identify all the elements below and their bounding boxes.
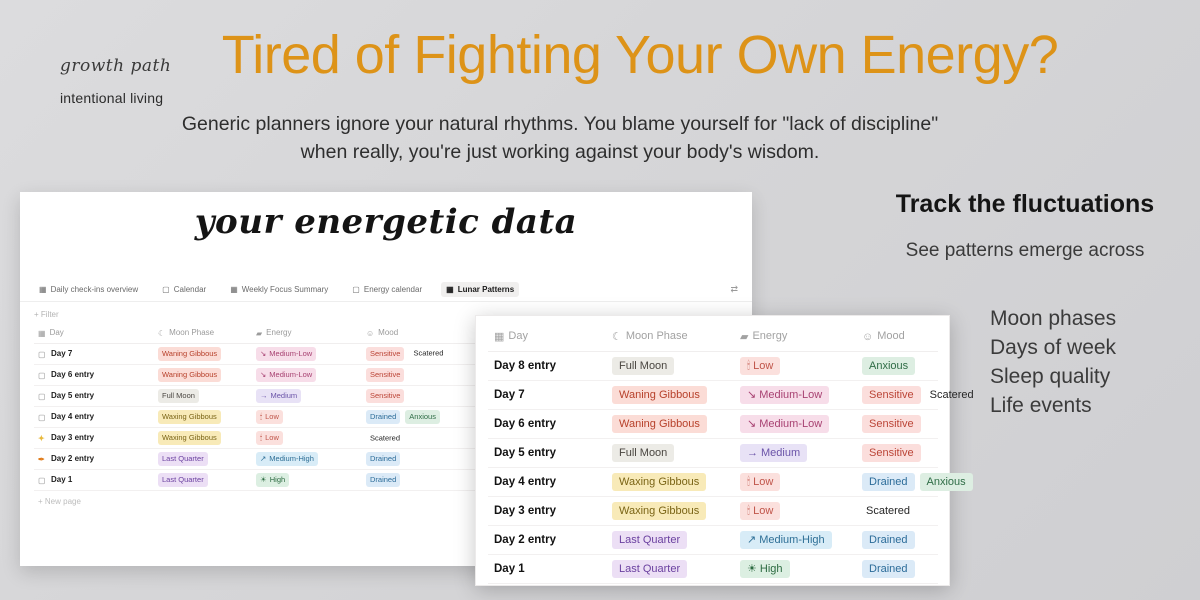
cell-day-label: Day 1 (51, 475, 72, 484)
energy-tag: 🕯Low (256, 431, 283, 444)
cell-moon-phase[interactable]: Waning Gibbous (606, 410, 734, 439)
energy-level-icon: ↘ (747, 388, 756, 403)
cell-day[interactable]: Day 3 entry (488, 497, 606, 526)
cell-energy[interactable]: 🕯Low (252, 407, 362, 428)
energy-level-icon: 🕯 (747, 504, 750, 519)
cell-day-label: Day 2 entry (494, 534, 556, 546)
moon-phase-tag: Full Moon (158, 389, 199, 402)
page-icon: ▢ (38, 371, 48, 380)
moon-phase-tag: Last Quarter (158, 473, 208, 486)
table-row[interactable]: Day 5 entryFull Moon→MediumSensitive (488, 439, 938, 468)
column-header-label: Moon Phase (169, 328, 214, 337)
table-header-row: ▦Day☾Moon Phase▰Energy☺Mood (488, 324, 938, 352)
cell-day[interactable]: Day 2 entry (488, 526, 606, 555)
tab-weekly-focus-summary[interactable]: ▦Weekly Focus Summary (225, 282, 333, 297)
energy-tag: 🕯Low (256, 410, 283, 423)
table-grid-icon: ▦ (446, 286, 454, 294)
moon-phase-tag: Last Quarter (612, 531, 687, 550)
energy-tag: ↘Medium-Low (256, 347, 316, 360)
moon-phase-tag: Last Quarter (612, 560, 687, 579)
page-icon: ▢ (352, 286, 360, 294)
cell-energy[interactable]: ↘Medium-Low (252, 365, 362, 386)
subheadline-line-1: Generic planners ignore your natural rhy… (150, 110, 970, 138)
cell-day[interactable]: Day 8 entry (488, 352, 606, 381)
cell-day[interactable]: Day 4 entry (488, 468, 606, 497)
cell-energy[interactable]: ☀High (734, 555, 856, 584)
cell-energy[interactable]: →Medium (252, 386, 362, 407)
moon-phase-tag: Last Quarter (158, 452, 208, 465)
cell-energy[interactable]: ↘Medium-Low (252, 344, 362, 365)
cell-moon-phase[interactable]: Last Quarter (606, 526, 734, 555)
cell-day[interactable]: ✦Day 3 entry (34, 428, 154, 449)
cell-day[interactable]: ▢Day 5 entry (34, 386, 154, 407)
tab-label: Energy calendar (364, 285, 422, 294)
cell-energy[interactable]: 🕯Low (252, 428, 362, 449)
cell-day-label: Day 4 entry (494, 476, 556, 488)
mood-tag: Sensitive (366, 347, 404, 360)
energy-tag: ↗Medium-High (256, 452, 318, 465)
table-row[interactable]: Day 6 entryWaning Gibbous↘Medium-LowSens… (488, 410, 938, 439)
column-header-label: Energy (266, 328, 291, 337)
cell-moon-phase[interactable]: Last Quarter (606, 555, 734, 584)
tab-label: Calendar (174, 285, 206, 294)
cell-mood[interactable]: Scatered (856, 497, 938, 526)
energy-level-icon: ↘ (260, 349, 266, 359)
moon-phase-tag: Waxing Gibbous (612, 473, 706, 492)
calendar-icon: ▦ (494, 330, 504, 343)
column-header-label: Energy (752, 330, 787, 342)
cell-energy[interactable]: ↗Medium-High (734, 526, 856, 555)
cell-moon-phase[interactable]: Waxing Gibbous (606, 468, 734, 497)
table-body: Day 8 entryFull Moon🕯LowAnxiousDay 7Wani… (488, 352, 938, 584)
battery-icon: ▰ (740, 330, 748, 343)
mood-tag: Drained (862, 531, 915, 550)
candle-icon: ✦ (38, 434, 48, 443)
page-icon: ▢ (38, 413, 48, 422)
cell-moon-phase[interactable]: Waxing Gibbous (154, 428, 252, 449)
cell-mood[interactable]: DrainedAnxious (856, 468, 938, 497)
energy-label: Low (265, 412, 279, 421)
cell-day-label: Day 4 entry (51, 412, 94, 421)
table-grid-icon: ▦ (39, 286, 47, 294)
tab-lunar-patterns[interactable]: ▦Lunar Patterns (441, 282, 519, 297)
energy-level-icon: ↘ (260, 370, 266, 380)
energy-label: Medium-Low (759, 389, 822, 401)
mood-tag: Drained (862, 560, 915, 579)
cell-energy[interactable]: 🕯Low (734, 497, 856, 526)
column-header-moon-phase[interactable]: ☾Moon Phase (154, 324, 252, 344)
cell-energy[interactable]: ↘Medium-Low (734, 410, 856, 439)
cell-moon-phase[interactable]: Waning Gibbous (154, 365, 252, 386)
cell-day-label: Day 6 entry (51, 370, 94, 379)
mood-tag: Anxious (920, 473, 973, 492)
cell-moon-phase[interactable]: Last Quarter (154, 449, 252, 470)
energy-tag: ☀High (740, 560, 790, 579)
smiley-icon: ☺ (862, 331, 873, 343)
cell-mood[interactable]: Sensitive (856, 439, 938, 468)
mood-tag: Sensitive (862, 444, 921, 463)
cell-day-label: Day 5 entry (51, 391, 94, 400)
column-header-label: Day (50, 328, 64, 337)
tab-label: Daily check-ins overview (51, 285, 139, 294)
sliders-icon[interactable]: ⇄ (730, 284, 738, 295)
cell-mood[interactable]: Sensitive (856, 410, 938, 439)
column-header-day[interactable]: ▦Day (34, 324, 154, 344)
energy-label: Low (753, 476, 773, 488)
mood-tag: Drained (366, 473, 400, 486)
mood-tag: Drained (862, 473, 915, 492)
list-item: Sleep quality (990, 363, 1116, 392)
cell-energy[interactable]: →Medium (734, 439, 856, 468)
column-header-label: Mood (378, 328, 398, 337)
column-header-energy[interactable]: ▰Energy (252, 324, 362, 344)
moon-icon: ☾ (612, 330, 622, 343)
tab-daily-check-ins-overview[interactable]: ▦Daily check-ins overview (34, 282, 143, 297)
table-row[interactable]: Day 2 entryLast Quarter↗Medium-HighDrain… (488, 526, 938, 555)
cell-energy[interactable]: 🕯Low (734, 352, 856, 381)
table-row[interactable]: Day 1Last Quarter☀HighDrained (488, 555, 938, 584)
energy-level-icon: → (747, 446, 758, 461)
cell-energy[interactable]: ↘Medium-Low (734, 381, 856, 410)
cell-mood[interactable]: Drained (856, 526, 938, 555)
moon-phase-tag: Waxing Gibbous (158, 410, 221, 423)
table-row[interactable]: Day 8 entryFull Moon🕯LowAnxious (488, 352, 938, 381)
cell-energy[interactable]: ☀High (252, 470, 362, 491)
energy-label: Medium (761, 447, 800, 459)
mood-tag: Scatered (366, 432, 404, 444)
energy-tag: ☀High (256, 473, 289, 486)
energy-label: Medium-Low (269, 370, 312, 379)
energy-label: Medium-High (759, 534, 824, 546)
cell-day-label: Day 1 (494, 563, 525, 575)
cell-mood[interactable]: Anxious (856, 352, 938, 381)
cell-day-label: Day 7 (51, 349, 72, 358)
brand-script-text: growth path (60, 56, 171, 76)
energy-label: Medium-High (269, 454, 314, 463)
cell-day-label: Day 7 (494, 389, 525, 401)
mood-tag: Scatered (926, 387, 978, 403)
energy-label: High (760, 563, 783, 575)
energy-label: Medium (271, 391, 298, 400)
mood-tag: Drained (366, 410, 400, 423)
table-grid-icon: ▦ (230, 286, 238, 294)
energy-level-icon: ↘ (747, 417, 756, 432)
front-screenshot-panel: ▦Day☾Moon Phase▰Energy☺Mood Day 8 entryF… (475, 315, 950, 586)
list-item: Moon phases (990, 305, 1116, 334)
tab-label: Weekly Focus Summary (242, 285, 329, 294)
cell-day-label: Day 3 entry (51, 433, 94, 442)
energy-level-icon: ☀ (747, 562, 757, 577)
energy-label: Low (753, 360, 773, 372)
cover-title: your energetic data (20, 192, 752, 242)
cell-day[interactable]: ▢Day 7 (34, 344, 154, 365)
mood-tag: Sensitive (862, 386, 921, 405)
mood-tag: Anxious (405, 410, 440, 423)
cell-day-label: Day 6 entry (494, 418, 556, 430)
moon-phase-tag: Waxing Gibbous (612, 502, 706, 521)
database-view-tabbar: ▦Daily check-ins overview▢Calendar▦Weekl… (20, 278, 752, 302)
cell-energy[interactable]: ↗Medium-High (252, 449, 362, 470)
brand-tagline: intentional living (60, 90, 163, 106)
cell-day[interactable]: Day 1 (488, 555, 606, 584)
energy-tag: ↘Medium-Low (740, 386, 829, 405)
energy-tag: ↘Medium-Low (740, 415, 829, 434)
calendar-icon: ▦ (38, 329, 46, 338)
moon-phase-tag: Waning Gibbous (158, 368, 221, 381)
tab-label: Lunar Patterns (458, 285, 514, 294)
moon-phase-tag: Waning Gibbous (612, 415, 707, 434)
cell-energy[interactable]: 🕯Low (734, 468, 856, 497)
moon-icon: ☾ (158, 329, 165, 338)
energy-level-icon: ↗ (260, 454, 266, 464)
energy-level-icon: 🕯 (747, 359, 750, 374)
page-icon: ▢ (162, 286, 170, 294)
cell-day[interactable]: ✒Day 2 entry (34, 449, 154, 470)
energy-level-icon: 🕯 (747, 475, 750, 490)
cell-day[interactable]: Day 5 entry (488, 439, 606, 468)
energy-tag: ↗Medium-High (740, 531, 832, 550)
cell-moon-phase[interactable]: Last Quarter (154, 470, 252, 491)
cell-mood[interactable]: Drained (856, 555, 938, 584)
cell-moon-phase[interactable]: Waning Gibbous (154, 344, 252, 365)
page-icon: ▢ (38, 476, 48, 485)
tab-energy-calendar[interactable]: ▢Energy calendar (347, 282, 427, 297)
mood-tag: Sensitive (862, 415, 921, 434)
table-row[interactable]: Day 3 entryWaxing Gibbous🕯LowScatered (488, 497, 938, 526)
mood-tag: Drained (366, 452, 400, 465)
energy-level-icon: 🕯 (260, 412, 262, 422)
energy-tag: 🕯Low (740, 357, 780, 376)
right-column-list: Moon phases Days of week Sleep quality L… (990, 305, 1116, 421)
energy-level-icon: ↗ (747, 533, 756, 548)
moon-phase-tag: Waning Gibbous (158, 347, 221, 360)
lunar-patterns-table-front: ▦Day☾Moon Phase▰Energy☺Mood Day 8 entryF… (488, 324, 938, 584)
column-header-label: Day (508, 330, 528, 342)
list-item: Days of week (990, 334, 1116, 363)
energy-label: Medium-Low (759, 418, 822, 430)
energy-level-icon: ☀ (260, 475, 267, 485)
column-header-day[interactable]: ▦Day (488, 324, 606, 352)
cell-day[interactable]: Day 7 (488, 381, 606, 410)
page-icon: ▢ (38, 392, 48, 401)
mood-tag: Sensitive (366, 368, 404, 381)
mood-tag: Sensitive (366, 389, 404, 402)
subheadline-line-2: when really, you're just working against… (150, 138, 970, 166)
column-header-label: Mood (877, 330, 905, 342)
tab-calendar[interactable]: ▢Calendar (157, 282, 211, 297)
cell-moon-phase[interactable]: Waxing Gibbous (606, 497, 734, 526)
right-column-subheading: See patterns emerge across (860, 240, 1190, 262)
energy-tag: 🕯Low (740, 502, 780, 521)
filter-button[interactable]: + Filter (34, 310, 59, 319)
leaf-icon: ✒ (38, 455, 48, 464)
energy-tag: ↘Medium-Low (256, 368, 316, 381)
cell-day-label: Day 8 entry (494, 360, 556, 372)
column-header-mood[interactable]: ☺Mood (856, 324, 938, 352)
cell-moon-phase[interactable]: Waning Gibbous (606, 381, 734, 410)
cell-day[interactable]: ▢Day 1 (34, 470, 154, 491)
cell-moon-phase[interactable]: Full Moon (154, 386, 252, 407)
energy-tag: →Medium (256, 389, 301, 402)
energy-label: Low (753, 505, 773, 517)
battery-icon: ▰ (256, 329, 262, 338)
cell-moon-phase[interactable]: Full Moon (606, 439, 734, 468)
energy-label: Low (265, 433, 279, 442)
table-row[interactable]: Day 4 entryWaxing Gibbous🕯LowDrainedAnxi… (488, 468, 938, 497)
right-column-heading: Track the fluctuations (860, 190, 1190, 219)
page-icon: ▢ (38, 350, 48, 359)
list-item: Life events (990, 392, 1116, 421)
energy-level-icon: → (260, 391, 268, 401)
cell-day-label: Day 5 entry (494, 447, 556, 459)
moon-phase-tag: Full Moon (612, 444, 674, 463)
cell-day[interactable]: ▢Day 4 entry (34, 407, 154, 428)
page-subheadline: Generic planners ignore your natural rhy… (150, 110, 970, 167)
energy-label: Medium-Low (269, 349, 312, 358)
cell-mood[interactable]: SensitiveScatered (856, 381, 938, 410)
cell-day-label: Day 3 entry (494, 505, 556, 517)
mood-tag: Scatered (862, 503, 914, 519)
cell-day[interactable]: Day 6 entry (488, 410, 606, 439)
energy-tag: →Medium (740, 444, 807, 463)
moon-phase-tag: Waxing Gibbous (158, 431, 221, 444)
cell-moon-phase[interactable]: Waxing Gibbous (154, 407, 252, 428)
energy-level-icon: 🕯 (260, 433, 262, 443)
smiley-icon: ☺ (366, 329, 374, 338)
moon-phase-tag: Waning Gibbous (612, 386, 707, 405)
cell-day[interactable]: ▢Day 6 entry (34, 365, 154, 386)
energy-tag: 🕯Low (740, 473, 780, 492)
column-header-energy[interactable]: ▰Energy (734, 324, 856, 352)
cell-moon-phase[interactable]: Full Moon (606, 352, 734, 381)
column-header-label: Moon Phase (626, 330, 688, 342)
energy-label: High (270, 475, 285, 484)
moon-phase-tag: Full Moon (612, 357, 674, 376)
mood-tag: Scatered (409, 347, 447, 359)
table-row[interactable]: Day 7Waning Gibbous↘Medium-LowSensitiveS… (488, 381, 938, 410)
cell-day-label: Day 2 entry (51, 454, 94, 463)
page-headline: Tired of Fighting Your Own Energy? (180, 24, 1100, 86)
column-header-moon-phase[interactable]: ☾Moon Phase (606, 324, 734, 352)
mood-tag: Anxious (862, 357, 915, 376)
